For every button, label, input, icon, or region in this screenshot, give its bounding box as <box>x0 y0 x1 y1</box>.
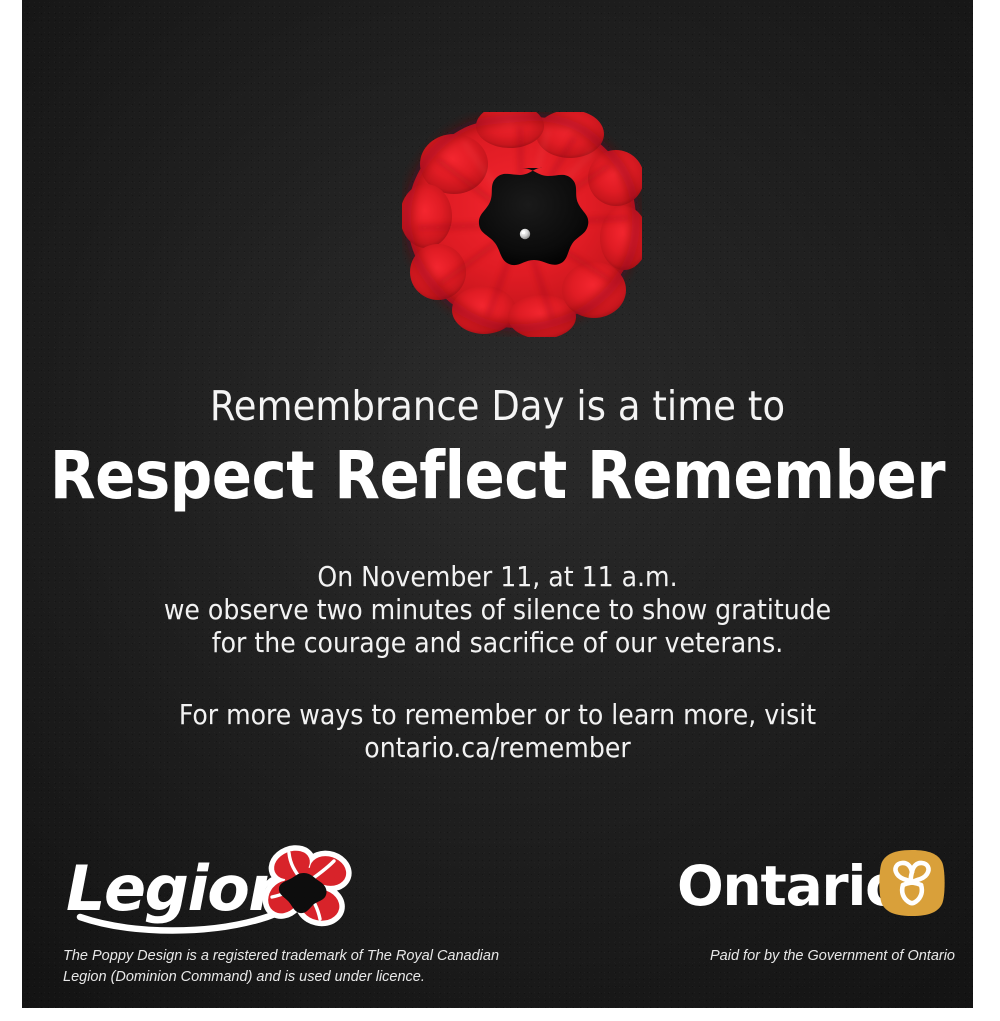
government-credit-footnote: Paid for by the Government of Ontario <box>710 946 955 967</box>
learn-more-line: For more ways to remember or to learn mo… <box>22 698 973 731</box>
observance-line-2: we observe two minutes of silence to sho… <box>22 593 973 626</box>
poppy-pin <box>520 229 530 239</box>
kicker-line: Remembrance Day is a time to <box>22 380 973 432</box>
website-url[interactable]: ontario.ca/remember <box>22 731 973 764</box>
ontario-logo[interactable]: Ontario <box>677 848 947 932</box>
legion-trademark-line-1: The Poppy Design is a registered tradema… <box>63 946 533 967</box>
poster-canvas: Remembrance Day is a time to Respect Ref… <box>22 0 973 1008</box>
ontario-trillium-icon <box>877 848 947 918</box>
legion-trademark-footnote: The Poppy Design is a registered tradema… <box>63 946 533 988</box>
observance-paragraph: On November 11, at 11 a.m. we observe tw… <box>22 560 973 659</box>
learn-more-paragraph: For more ways to remember or to learn mo… <box>22 698 973 764</box>
ontario-wordmark: Ontario <box>677 854 902 918</box>
legion-trademark-line-2: Legion (Dominion Command) and is used un… <box>63 967 533 988</box>
poster-frame: Remembrance Day is a time to Respect Ref… <box>0 0 1000 1021</box>
legion-wordmark: Legion <box>66 852 291 925</box>
legion-logo[interactable]: Legion <box>62 843 362 940</box>
page-title: Respect Reflect Remember <box>22 437 973 515</box>
observance-line-3: for the courage and sacrifice of our vet… <box>22 626 973 659</box>
observance-line-1: On November 11, at 11 a.m. <box>22 560 973 593</box>
remembrance-poppy-image <box>402 112 642 337</box>
